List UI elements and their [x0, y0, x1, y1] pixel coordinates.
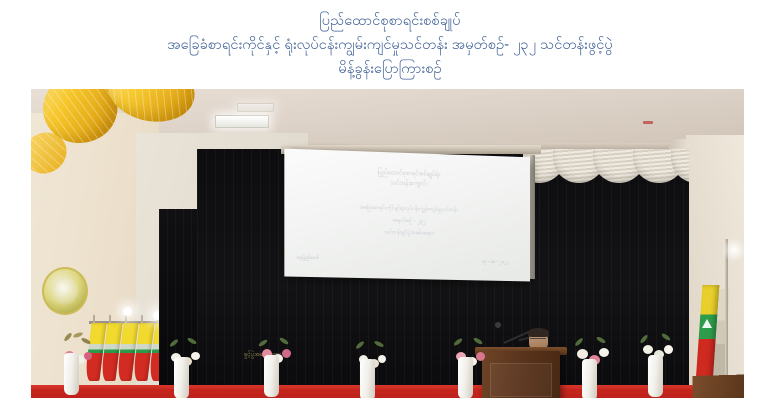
page-root: ပြည်ထောင်စုစာရင်းစစ်ချုပ် အခြေခံစာရင်းကိ… [0, 0, 780, 420]
page-title: ပြည်ထောင်စုစာရင်းစစ်ချုပ် အခြေခံစာရင်းကိ… [0, 9, 780, 81]
flower-vase [64, 353, 79, 395]
microphone-head-icon [495, 322, 501, 328]
flower-vase [582, 359, 597, 398]
projector-screen-edge [530, 155, 535, 279]
wall-emblem-inner [52, 277, 78, 305]
wall-light-icon [123, 307, 132, 316]
speaker-glasses-icon [530, 338, 546, 343]
wall-emblem-icon [42, 267, 88, 315]
slide-footer-location: နေပြည်တော် [297, 254, 319, 262]
podium-secondary [693, 374, 744, 398]
stage-carpet [31, 389, 744, 398]
title-line-1: ပြည်ထောင်စုစာရင်းစစ်ချုပ် [0, 9, 780, 33]
flower-vase [264, 355, 279, 397]
title-line-2: အခြေခံစာရင်းကိုင်နှင့် ရုံးလုပ်ငန်းကျွမ်… [0, 33, 780, 57]
flower-vase [648, 355, 663, 397]
flag-pole [725, 239, 728, 387]
flag-star-icon [702, 319, 712, 328]
ceiling-marker [643, 121, 653, 124]
ceiling-light-secondary-icon [237, 103, 274, 112]
podium [482, 351, 560, 398]
window-light-glow [723, 239, 744, 261]
ceiling-light-icon [215, 115, 269, 128]
podium-front-panel [490, 363, 552, 397]
ceremony-photo: ပြည်ထောင်စုစာရင်းစစ်ချုပ်ရုံး သင်တန်းကျေ… [31, 89, 744, 398]
flower-vase [360, 359, 375, 398]
projector-screen: ပြည်ထောင်စုစာရင်းစစ်ချုပ်ရုံး သင်တန်းကျေ… [284, 149, 530, 282]
lace-valance [523, 149, 689, 195]
speaker-hair [528, 328, 549, 337]
flower-vase [458, 357, 473, 398]
title-line-3: မိန့်ခွန်းပြောကြားစဉ် [0, 57, 780, 81]
flower-vase [174, 357, 189, 398]
slide-footer-date: ၁၅ - ၀၈ - ၂၀၂၂ [481, 259, 508, 267]
